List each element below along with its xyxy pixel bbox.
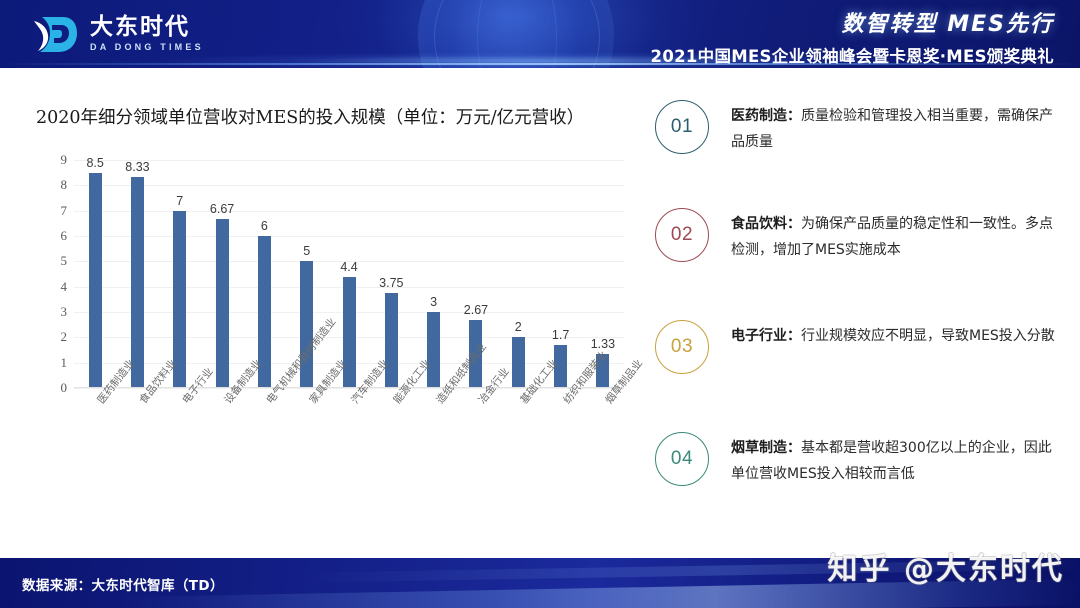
event-slogan: 数智转型 MES先行	[651, 6, 1054, 38]
bar-value-label: 6.67	[210, 202, 234, 216]
y-axis-tick-label: 1	[61, 355, 68, 371]
bar-value-label: 8.33	[125, 160, 149, 174]
insight-text: 电子行业：行业规模效应不明显，导致MES投入分散	[731, 320, 1055, 350]
header-divider	[0, 63, 1080, 65]
insight-number-badge: 01	[655, 100, 709, 154]
insight-lead: 医药制造：	[731, 108, 801, 124]
data-source-label: 数据来源：大东时代智库（TD）	[22, 574, 224, 594]
bar[interactable]	[216, 219, 229, 388]
insight-item: 02食品饮料：为确保产品质量的稳定性和一致性。多点检测，增加了MES实施成本	[655, 208, 1055, 264]
x-axis-label-cell: 基础化工业	[497, 394, 539, 486]
bar-value-label: 4.4	[340, 260, 357, 274]
insight-item: 01医药制造：质量检验和管理投入相当重要，需确保产品质量	[655, 100, 1055, 156]
chart-x-axis-labels: 医药制造业食品饮料业电子行业设备制造业电气机械和器材制造业家具制造业汽车制造业能…	[74, 394, 624, 486]
bar-value-label: 2.67	[464, 303, 488, 317]
bar-column[interactable]: 1.7	[539, 160, 581, 388]
y-axis-tick-label: 8	[61, 177, 68, 193]
x-axis-label-cell: 纺织和服装业	[539, 394, 581, 486]
x-axis-label-cell: 家具制造业	[286, 394, 328, 486]
bar[interactable]	[131, 177, 144, 388]
bar-value-label: 1.33	[591, 337, 615, 351]
dadong-d-logo-icon	[28, 8, 80, 60]
bar-value-label: 8.5	[86, 156, 103, 170]
y-axis-tick-label: 4	[61, 279, 68, 295]
page-footer: 数据来源：大东时代智库（TD）	[0, 558, 1080, 608]
x-axis-label-cell: 医药制造业	[74, 394, 116, 486]
insight-item: 04烟草制造：基本都是营收超300亿以上的企业，因此单位营收MES投入相较而言低	[655, 432, 1055, 488]
insight-number-badge: 04	[655, 432, 709, 486]
bar-column[interactable]: 8.33	[116, 160, 158, 388]
x-axis-label-cell: 电子行业	[159, 394, 201, 486]
bar[interactable]	[89, 173, 102, 388]
chart-title: 2020年细分领域单位营收对MES的投入规模（单位：万元/亿元营收）	[36, 104, 584, 129]
chart-plot-area: 9876543210 8.58.3376.67654.43.7532.6721.…	[74, 160, 624, 388]
bar-value-label: 3	[430, 295, 437, 309]
brand-logo-text: 大东时代 DA DONG TIMES	[90, 16, 204, 52]
slide-body: 2020年细分领域单位营收对MES的投入规模（单位：万元/亿元营收） 98765…	[0, 68, 1080, 558]
insight-lead: 烟草制造：	[731, 440, 801, 456]
y-axis-tick-label: 2	[61, 329, 68, 345]
x-axis-label-cell: 汽车制造业	[328, 394, 370, 486]
bar-value-label: 5	[303, 244, 310, 258]
x-axis-label-cell: 能源化工业	[370, 394, 412, 486]
insight-text: 烟草制造：基本都是营收超300亿以上的企业，因此单位营收MES投入相较而言低	[731, 432, 1055, 488]
bar-value-label: 3.75	[379, 276, 403, 290]
header-title-block: 数智转型 MES先行 2021中国MES企业领袖峰会暨卡恩奖·MES颁奖典礼	[651, 6, 1054, 67]
bar-column[interactable]: 8.5	[74, 160, 116, 388]
footer-light-streak-secondary	[300, 559, 1080, 583]
bar[interactable]	[512, 337, 525, 388]
footer-light-streak	[120, 579, 1080, 608]
chart-bars: 8.58.3376.67654.43.7532.6721.71.33	[74, 160, 624, 388]
brand-name-cn: 大东时代	[90, 16, 204, 39]
insight-number-badge: 03	[655, 320, 709, 374]
bar-chart: 9876543210 8.58.3376.67654.43.7532.6721.…	[48, 146, 628, 486]
insight-text: 医药制造：质量检验和管理投入相当重要，需确保产品质量	[731, 100, 1055, 156]
x-axis-label-cell: 食品饮料业	[116, 394, 158, 486]
bar-column[interactable]: 4.4	[328, 160, 370, 388]
insight-item: 03电子行业：行业规模效应不明显，导致MES投入分散	[655, 320, 1055, 374]
insight-description: 行业规模效应不明显，导致MES投入分散	[801, 328, 1055, 344]
bar-column[interactable]: 3	[413, 160, 455, 388]
x-axis-label-cell: 烟草制品业	[582, 394, 624, 486]
x-axis-label-cell: 设备制造业	[201, 394, 243, 486]
y-axis-tick-label: 9	[61, 152, 68, 168]
bar-value-label: 1.7	[552, 328, 569, 342]
bar[interactable]	[385, 293, 398, 388]
brand-logo: 大东时代 DA DONG TIMES	[28, 8, 204, 60]
bar[interactable]	[427, 312, 440, 388]
bar-column[interactable]: 6	[243, 160, 285, 388]
y-axis-tick-label: 3	[61, 304, 68, 320]
y-axis-tick-label: 7	[61, 203, 68, 219]
insight-lead: 电子行业：	[731, 328, 801, 344]
page-header: 大东时代 DA DONG TIMES 数智转型 MES先行 2021中国MES企…	[0, 0, 1080, 68]
x-axis-label-cell: 造纸和纸制品业	[413, 394, 455, 486]
y-axis-tick-label: 5	[61, 253, 68, 269]
bar-column[interactable]: 3.75	[370, 160, 412, 388]
x-axis-label-cell: 冶金行业	[455, 394, 497, 486]
insight-lead: 食品饮料：	[731, 216, 801, 232]
bar-value-label: 6	[261, 219, 268, 233]
insight-text: 食品饮料：为确保产品质量的稳定性和一致性。多点检测，增加了MES实施成本	[731, 208, 1055, 264]
bar-column[interactable]: 7	[159, 160, 201, 388]
insight-number-badge: 02	[655, 208, 709, 262]
bar-column[interactable]: 6.67	[201, 160, 243, 388]
y-axis-tick-label: 6	[61, 228, 68, 244]
y-axis-tick-label: 0	[61, 380, 68, 396]
bar-value-label: 7	[176, 194, 183, 208]
brand-name-en: DA DONG TIMES	[90, 43, 204, 52]
bar-value-label: 2	[515, 320, 522, 334]
bar-column[interactable]: 2	[497, 160, 539, 388]
x-axis-label-cell: 电气机械和器材制造业	[243, 394, 285, 486]
